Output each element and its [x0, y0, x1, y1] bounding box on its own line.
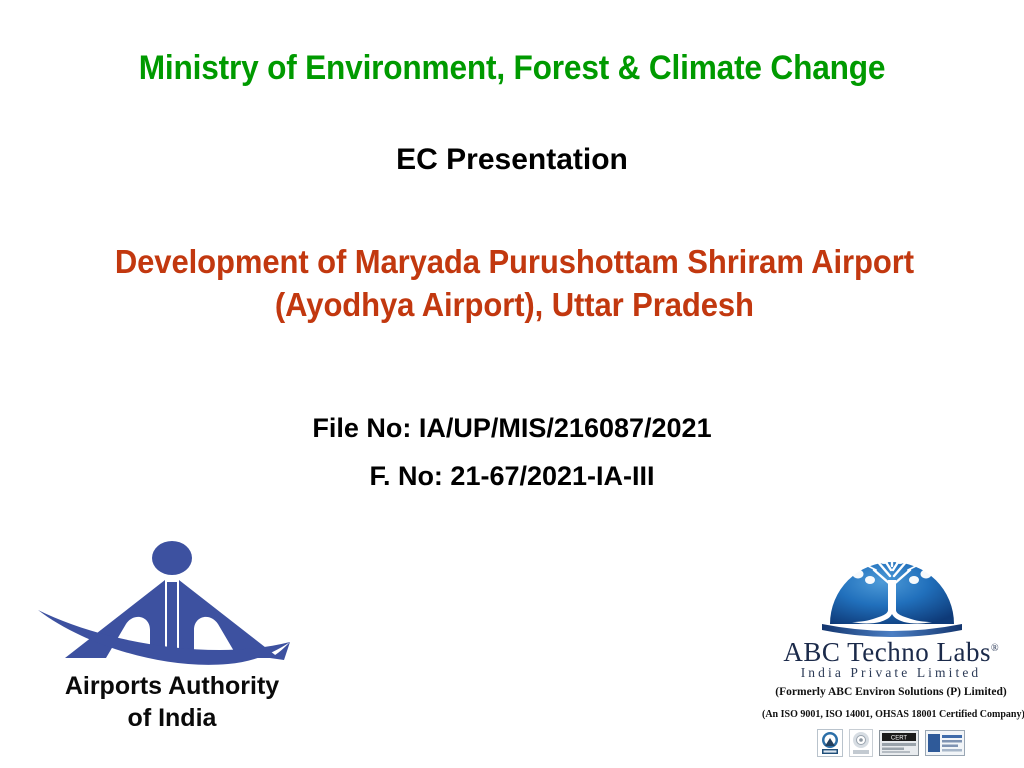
- abc-company-subname: India Private Limited: [762, 665, 1020, 681]
- aai-caption-line-2: of India: [22, 702, 322, 734]
- project-title: Development of Maryada Purushottam Shrir…: [71, 240, 958, 326]
- iso-certification-badge: [849, 729, 873, 757]
- registered-trademark-icon: ®: [991, 643, 999, 654]
- tree-dome-icon: [812, 536, 972, 640]
- qci-nabet-badge: [925, 730, 965, 756]
- aai-caption: Airports Authority of India: [22, 670, 322, 734]
- aai-monogram-icon: [22, 538, 322, 668]
- airports-authority-of-india-logo: Airports Authority of India: [22, 538, 322, 758]
- presentation-slide: Ministry of Environment, Forest & Climat…: [0, 0, 1024, 768]
- project-title-line-1: Development of Maryada Purushottam Shrir…: [71, 240, 958, 283]
- file-number: File No: IA/UP/MIS/216087/2021: [0, 412, 1024, 445]
- abc-former-name: (Formerly ABC Environ Solutions (P) Limi…: [762, 685, 1020, 699]
- f-number: F. No: 21-67/2021-IA-III: [0, 460, 1024, 493]
- aai-caption-line-1: Airports Authority: [22, 670, 322, 702]
- accreditation-badges: CERT: [762, 726, 1020, 760]
- abc-iso-certification-line: (An ISO 9001, ISO 14001, OHSAS 18001 Cer…: [762, 708, 1020, 721]
- abc-company-name-text: ABC Techno Labs: [783, 637, 991, 667]
- abc-company-name: ABC Techno Labs®: [762, 634, 1020, 667]
- presentation-subtitle: EC Presentation: [0, 142, 1024, 178]
- moef-recognition-badge: CERT: [879, 730, 919, 756]
- project-title-line-2: (Ayodhya Airport), Uttar Pradesh: [71, 283, 958, 326]
- nabl-accreditation-badge: [817, 729, 843, 757]
- page-title: Ministry of Environment, Forest & Climat…: [36, 48, 988, 88]
- svg-text:CERT: CERT: [891, 736, 908, 742]
- abc-techno-labs-logo: ABC Techno Labs® India Private Limited (…: [762, 536, 1020, 764]
